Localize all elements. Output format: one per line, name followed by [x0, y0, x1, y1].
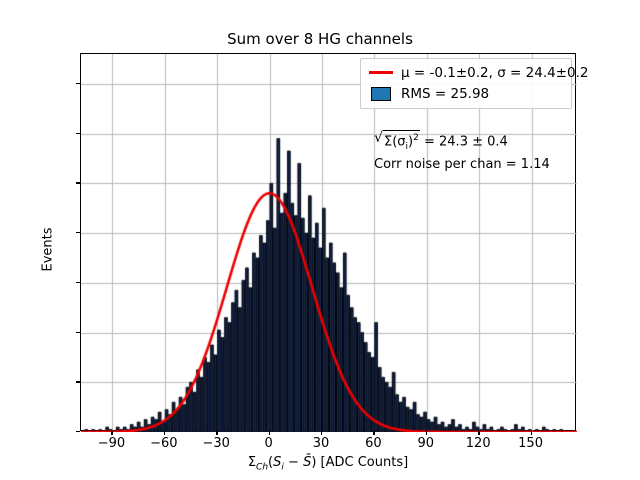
x-tick-label: −30: [203, 436, 230, 451]
y-tick-mark: [76, 332, 80, 333]
chart-title: Sum over 8 HG channels: [0, 30, 640, 48]
sqrt-icon: √: [374, 129, 383, 148]
legend-rms-label: RMS = 25.98: [401, 86, 489, 102]
x-axis-label-text: ΣCh(Si − S̄) [ADC Counts]: [248, 455, 408, 470]
x-tick-mark: [426, 431, 427, 435]
legend-fit-label: μ = -0.1±0.2, σ = 24.4±0.2: [401, 65, 588, 81]
legend-item-rms: RMS = 25.98: [368, 83, 564, 104]
y-tick-mark: [76, 282, 80, 283]
y-tick-mark: [76, 232, 80, 233]
annotation-sigma-sum: √ Σ(σi)2 = 24.3 ± 0.4: [374, 130, 550, 155]
x-tick-mark: [111, 431, 112, 435]
legend-item-fit: μ = -0.1±0.2, σ = 24.4±0.2: [368, 62, 564, 83]
histogram-canvas: [81, 54, 577, 432]
y-tick-mark: [76, 182, 80, 183]
y-tick-mark: [76, 381, 80, 382]
x-tick-mark: [531, 431, 532, 435]
annotation-block: √ Σ(σi)2 = 24.3 ± 0.4 Corr noise per cha…: [374, 130, 550, 174]
x-tick-label: 30: [313, 436, 330, 451]
legend-line-swatch: [368, 71, 394, 74]
x-axis-label: ΣCh(Si − S̄) [ADC Counts]: [80, 455, 576, 473]
y-axis-label: Events: [41, 190, 56, 310]
x-tick-mark: [164, 431, 165, 435]
annotation-corr-noise: Corr noise per chan = 1.14: [374, 155, 550, 174]
x-tick-label: 90: [418, 436, 435, 451]
x-tick-label: 150: [518, 436, 543, 451]
x-tick-label: −90: [98, 436, 125, 451]
x-tick-label: −60: [150, 436, 177, 451]
x-tick-label: 0: [264, 436, 272, 451]
x-tick-mark: [478, 431, 479, 435]
y-tick-mark: [76, 431, 80, 432]
annotation-radicand: Σ(σi)2: [383, 130, 420, 155]
plot-area: [80, 53, 576, 431]
legend-patch-swatch: [368, 87, 394, 101]
chart-root: Sum over 8 HG channels Events 0204060801…: [0, 0, 640, 480]
x-tick-mark: [373, 431, 374, 435]
x-tick-label: 60: [365, 436, 382, 451]
legend[interactable]: μ = -0.1±0.2, σ = 24.4±0.2 RMS = 25.98: [360, 58, 572, 109]
y-tick-mark: [76, 83, 80, 84]
x-tick-mark: [216, 431, 217, 435]
x-tick-label: 120: [466, 436, 491, 451]
x-tick-mark: [321, 431, 322, 435]
x-tick-mark: [269, 431, 270, 435]
annotation-sigma-value: = 24.3 ± 0.4: [420, 134, 508, 149]
y-tick-mark: [76, 133, 80, 134]
